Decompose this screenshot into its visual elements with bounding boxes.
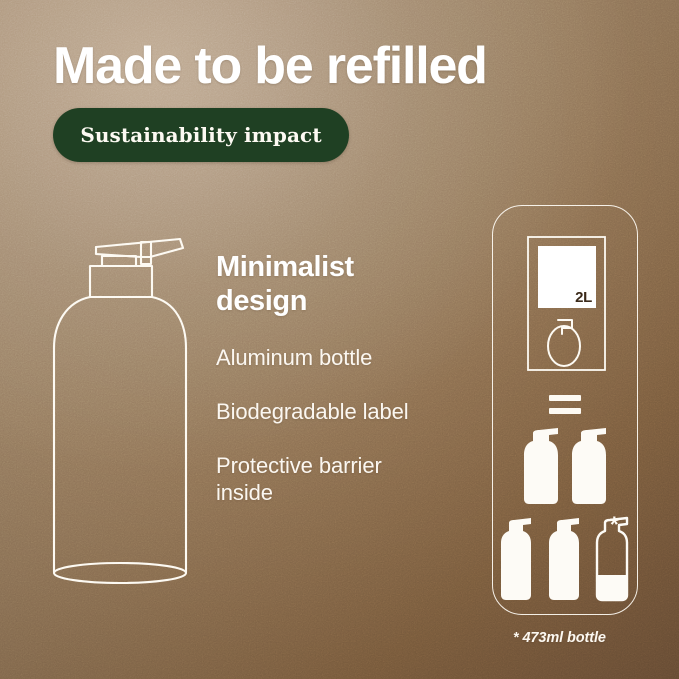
page-title: Made to be refilled	[53, 36, 487, 96]
pump-bottle-filled-icon	[572, 428, 606, 504]
list-item: Biodegradable label	[216, 398, 416, 425]
asterisk-marker: *	[610, 514, 619, 536]
poster-canvas: Made to be refilled Sustainability impac…	[0, 0, 679, 679]
feature-list-title: Minimalist design	[216, 250, 416, 318]
refill-volume-block: 2L	[538, 246, 596, 308]
pump-bottle-filled-icon	[501, 518, 531, 600]
pump-bottle-filled-icon	[549, 518, 579, 600]
feature-list: Minimalist design Aluminum bottle Biodeg…	[216, 250, 416, 506]
equals-sign-icon	[549, 395, 581, 414]
refill-volume-label: 2L	[575, 290, 592, 305]
bottle-group-top-row	[524, 428, 606, 504]
pump-spout-icon	[548, 320, 580, 366]
list-item: Aluminum bottle	[216, 344, 416, 371]
status-badge: Sustainability impact	[53, 108, 349, 162]
status-badge-label: Sustainability impact	[80, 123, 321, 147]
list-item: Protective barrier inside	[216, 452, 416, 506]
pump-bottle-filled-icon	[524, 428, 558, 504]
bottle-group-bottom-row	[501, 518, 627, 600]
footnote: * 473ml bottle	[513, 630, 606, 646]
pump-bottle-outline-icon	[44, 224, 208, 592]
